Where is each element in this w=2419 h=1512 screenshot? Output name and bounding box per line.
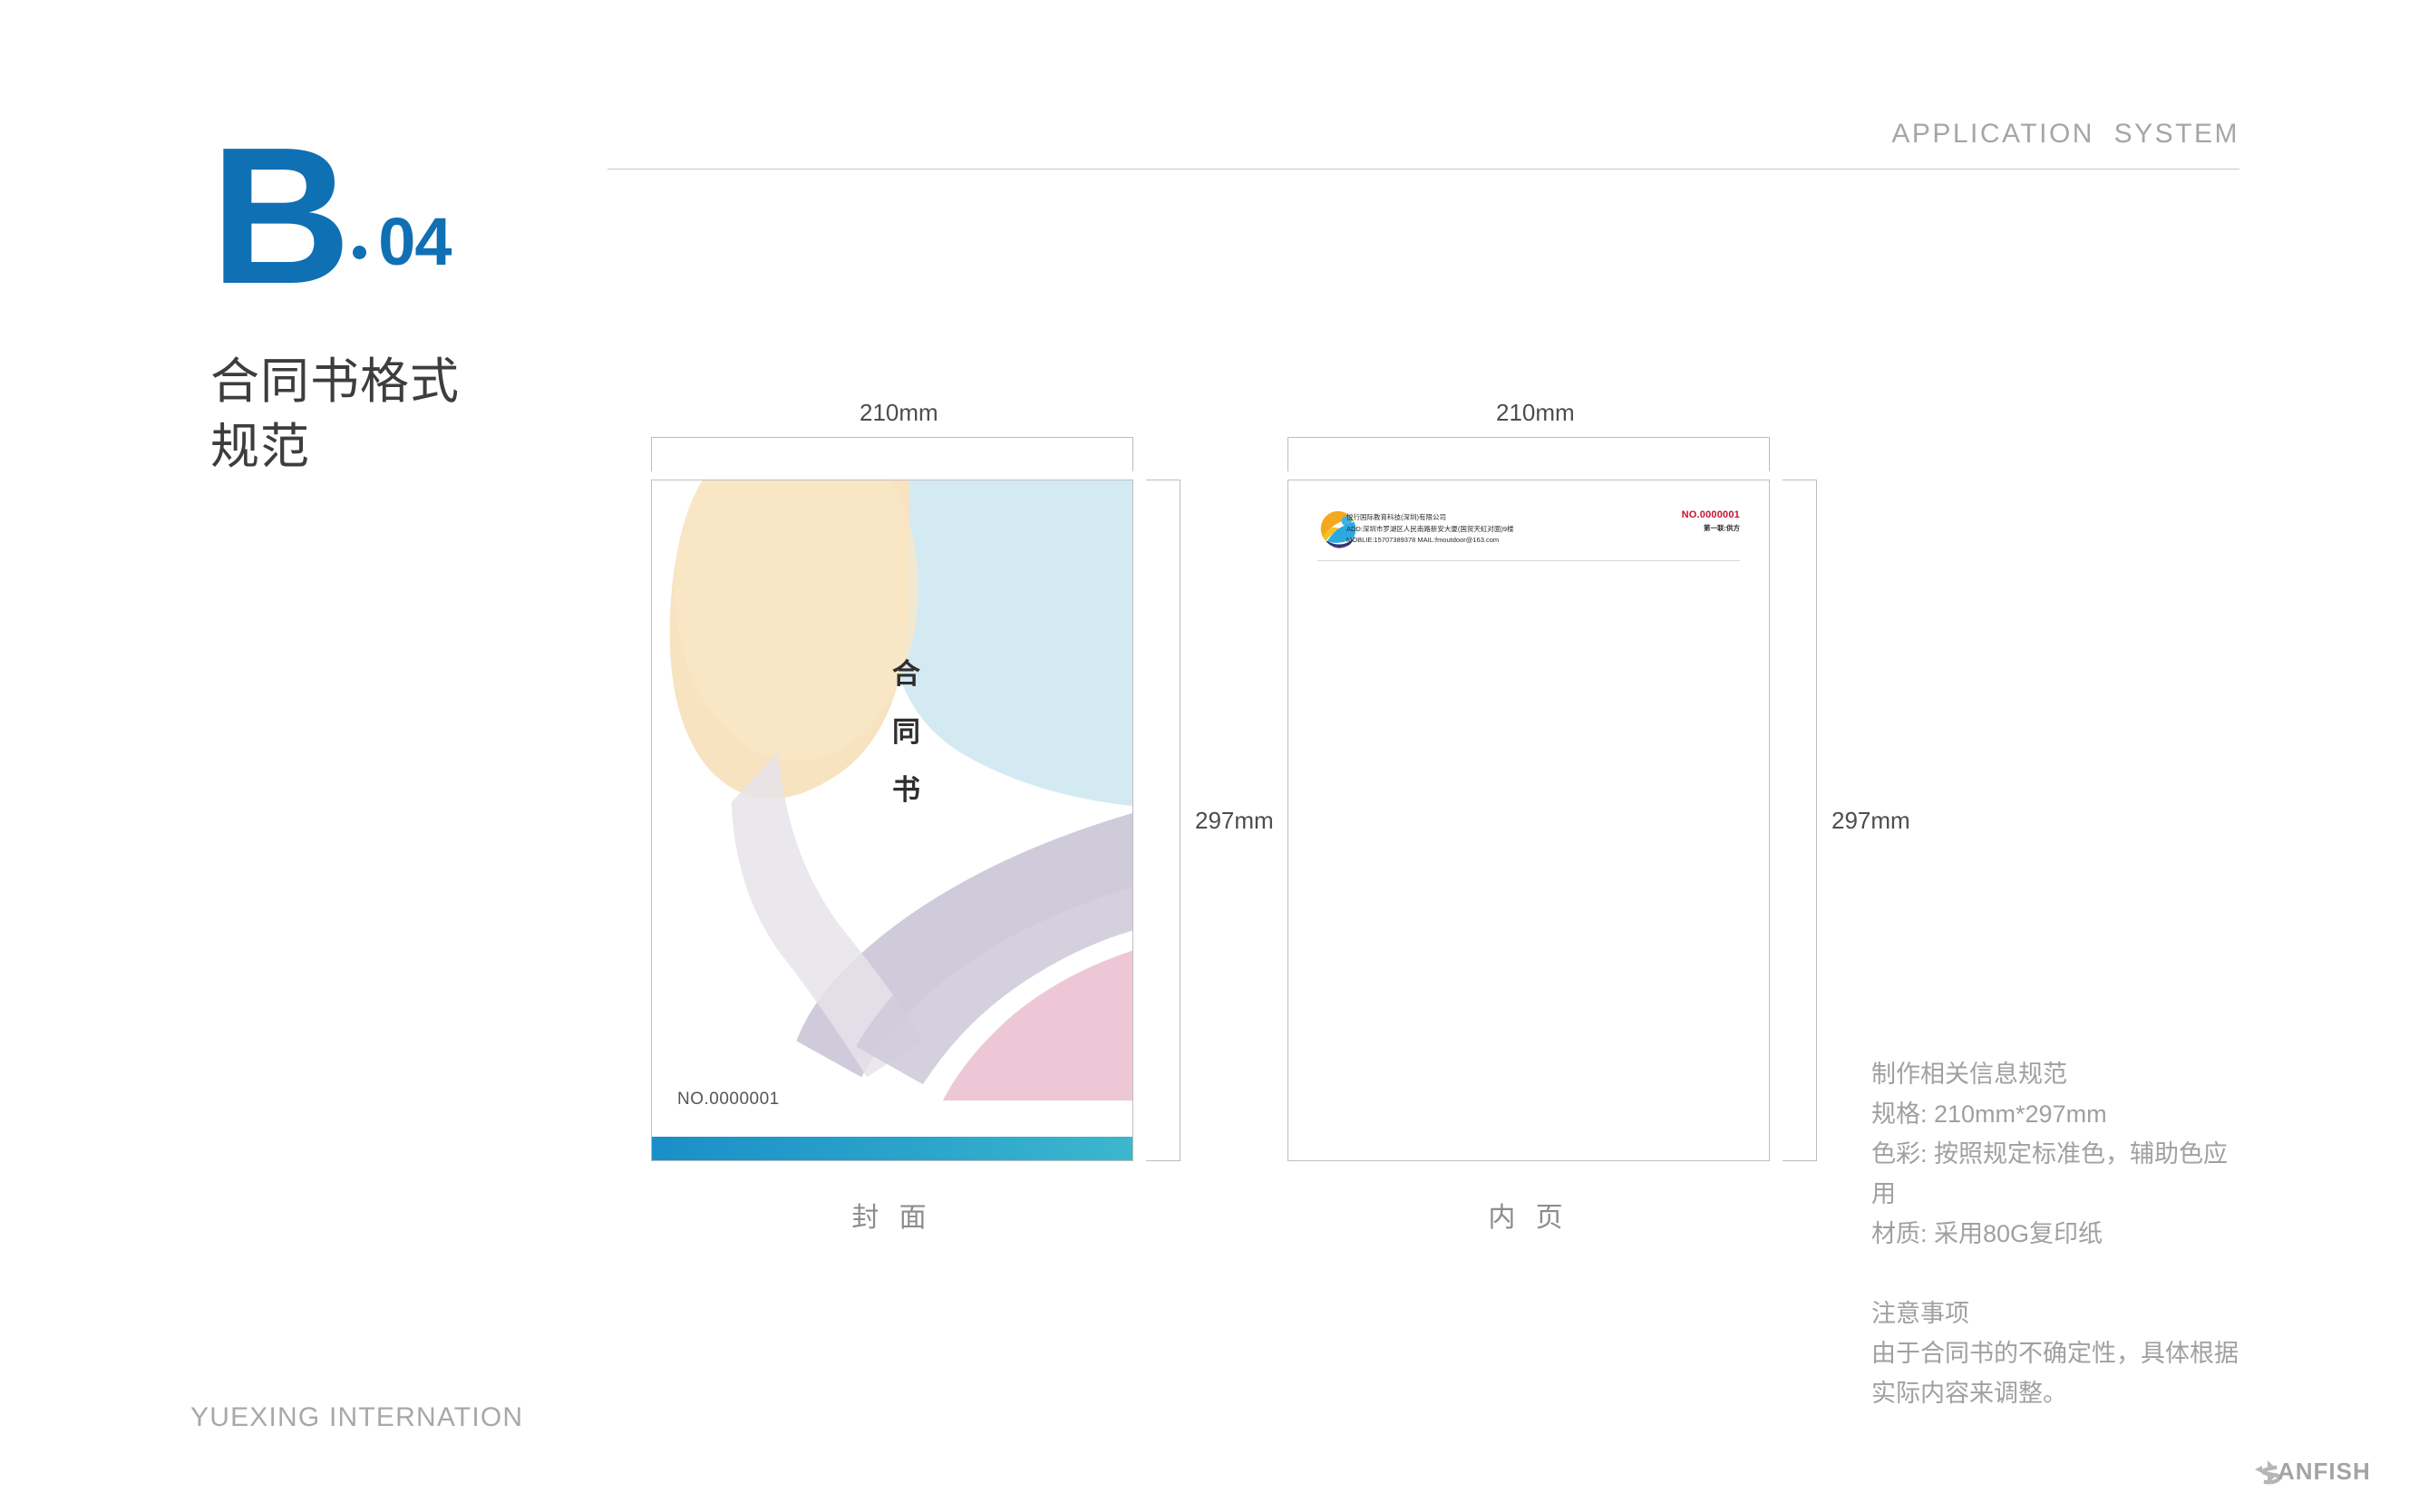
footer-brand: YUEXING INTERNATION: [190, 1402, 523, 1433]
notes-body: 由于合同书的不确定性，具体根据实际内容来调整。: [1871, 1333, 2243, 1413]
letterhead-brand-block: 悦行国际教育科技(深圳)有限公司 ADD:深圳市罗湖区人民南路新安大厦(国贸天虹…: [1317, 509, 1514, 549]
application-system-label: APPLICATION SYSTEM: [607, 119, 2239, 150]
inner-width-bracket: [1287, 437, 1770, 471]
letterhead-serial-block: NO.0000001 第一联:供方: [1682, 509, 1740, 533]
cover-bottom-gradient-bar: [652, 1137, 1132, 1160]
spec-block: 制作相关信息规范 规格: 210mm*297mm 色彩: 按照规定标准色，辅助色…: [1871, 1054, 2243, 1254]
cover-height-bracket: [1146, 480, 1180, 1161]
company-name: 悦行国际教育科技(深圳)有限公司: [1346, 512, 1514, 524]
inner-width-label: 210mm: [1496, 399, 1575, 427]
company-address: ADD:深圳市罗湖区人民南路新安大厦(国贸天虹对面)9楼: [1346, 524, 1514, 536]
spec-size: 规格: 210mm*297mm: [1871, 1094, 2243, 1134]
inner-serial-number: NO.0000001: [1682, 509, 1740, 520]
letterhead: 悦行国际教育科技(深圳)有限公司 ADD:深圳市罗湖区人民南路新安大厦(国贸天虹…: [1317, 509, 1740, 561]
notes-heading: 注意事项: [1871, 1294, 2243, 1333]
spec-color: 色彩: 按照规定标准色，辅助色应用: [1871, 1134, 2243, 1214]
cover-title-char-1: 合: [892, 645, 921, 703]
cover-width-label: 210mm: [860, 399, 938, 427]
section-letter: B: [210, 136, 347, 296]
page-title: 合同书格式 规范: [210, 349, 460, 480]
letterhead-divider: [1317, 560, 1740, 561]
spec-material: 材质: 采用80G复印纸: [1871, 1214, 2243, 1254]
cover-title-char-3: 书: [892, 761, 921, 819]
inner-copy-note: 第一联:供方: [1682, 523, 1740, 533]
header-divider: [607, 169, 2239, 170]
contract-inner-page-mockup: 悦行国际教育科技(深圳)有限公司 ADD:深圳市罗湖区人民南路新安大厦(国贸天虹…: [1287, 480, 1770, 1161]
letterhead-row: 悦行国际教育科技(深圳)有限公司 ADD:深圳市罗湖区人民南路新安大厦(国贸天虹…: [1317, 509, 1740, 549]
cover-artwork: [652, 480, 1132, 1160]
inner-caption: 内 页: [1287, 1195, 1770, 1235]
contract-cover-mockup: 合 同 书 NO.0000001: [651, 480, 1133, 1161]
cover-title: 合 同 书: [892, 645, 921, 819]
page-title-line1: 合同书格式: [210, 349, 460, 414]
page-title-line2: 规范: [210, 414, 460, 480]
cover-title-char-2: 同: [892, 703, 921, 761]
company-contact: MOBLIE:15707389378 MAIL:fmoutdoor@163.co…: [1346, 535, 1514, 547]
notes-block: 注意事项 由于合同书的不确定性，具体根据实际内容来调整。: [1871, 1294, 2243, 1413]
letterhead-info: 悦行国际教育科技(深圳)有限公司 ADD:深圳市罗湖区人民南路新安大厦(国贸天虹…: [1346, 512, 1514, 548]
inner-height-bracket: [1783, 480, 1817, 1161]
spec-heading: 制作相关信息规范: [1871, 1054, 2243, 1094]
section-mark: B 04: [210, 136, 452, 296]
cover-serial-number: NO.0000001: [677, 1090, 780, 1110]
sanfish-watermark: ANFISH: [2255, 1458, 2371, 1486]
cover-height-label: 297mm: [1195, 807, 1274, 835]
section-number: 04: [378, 208, 451, 276]
cover-width-bracket: [651, 437, 1133, 471]
inner-height-label: 297mm: [1831, 807, 1910, 835]
cover-caption: 封 面: [651, 1195, 1133, 1235]
sanfish-wordmark: ANFISH: [2278, 1458, 2371, 1486]
section-dot-icon: [353, 246, 366, 259]
